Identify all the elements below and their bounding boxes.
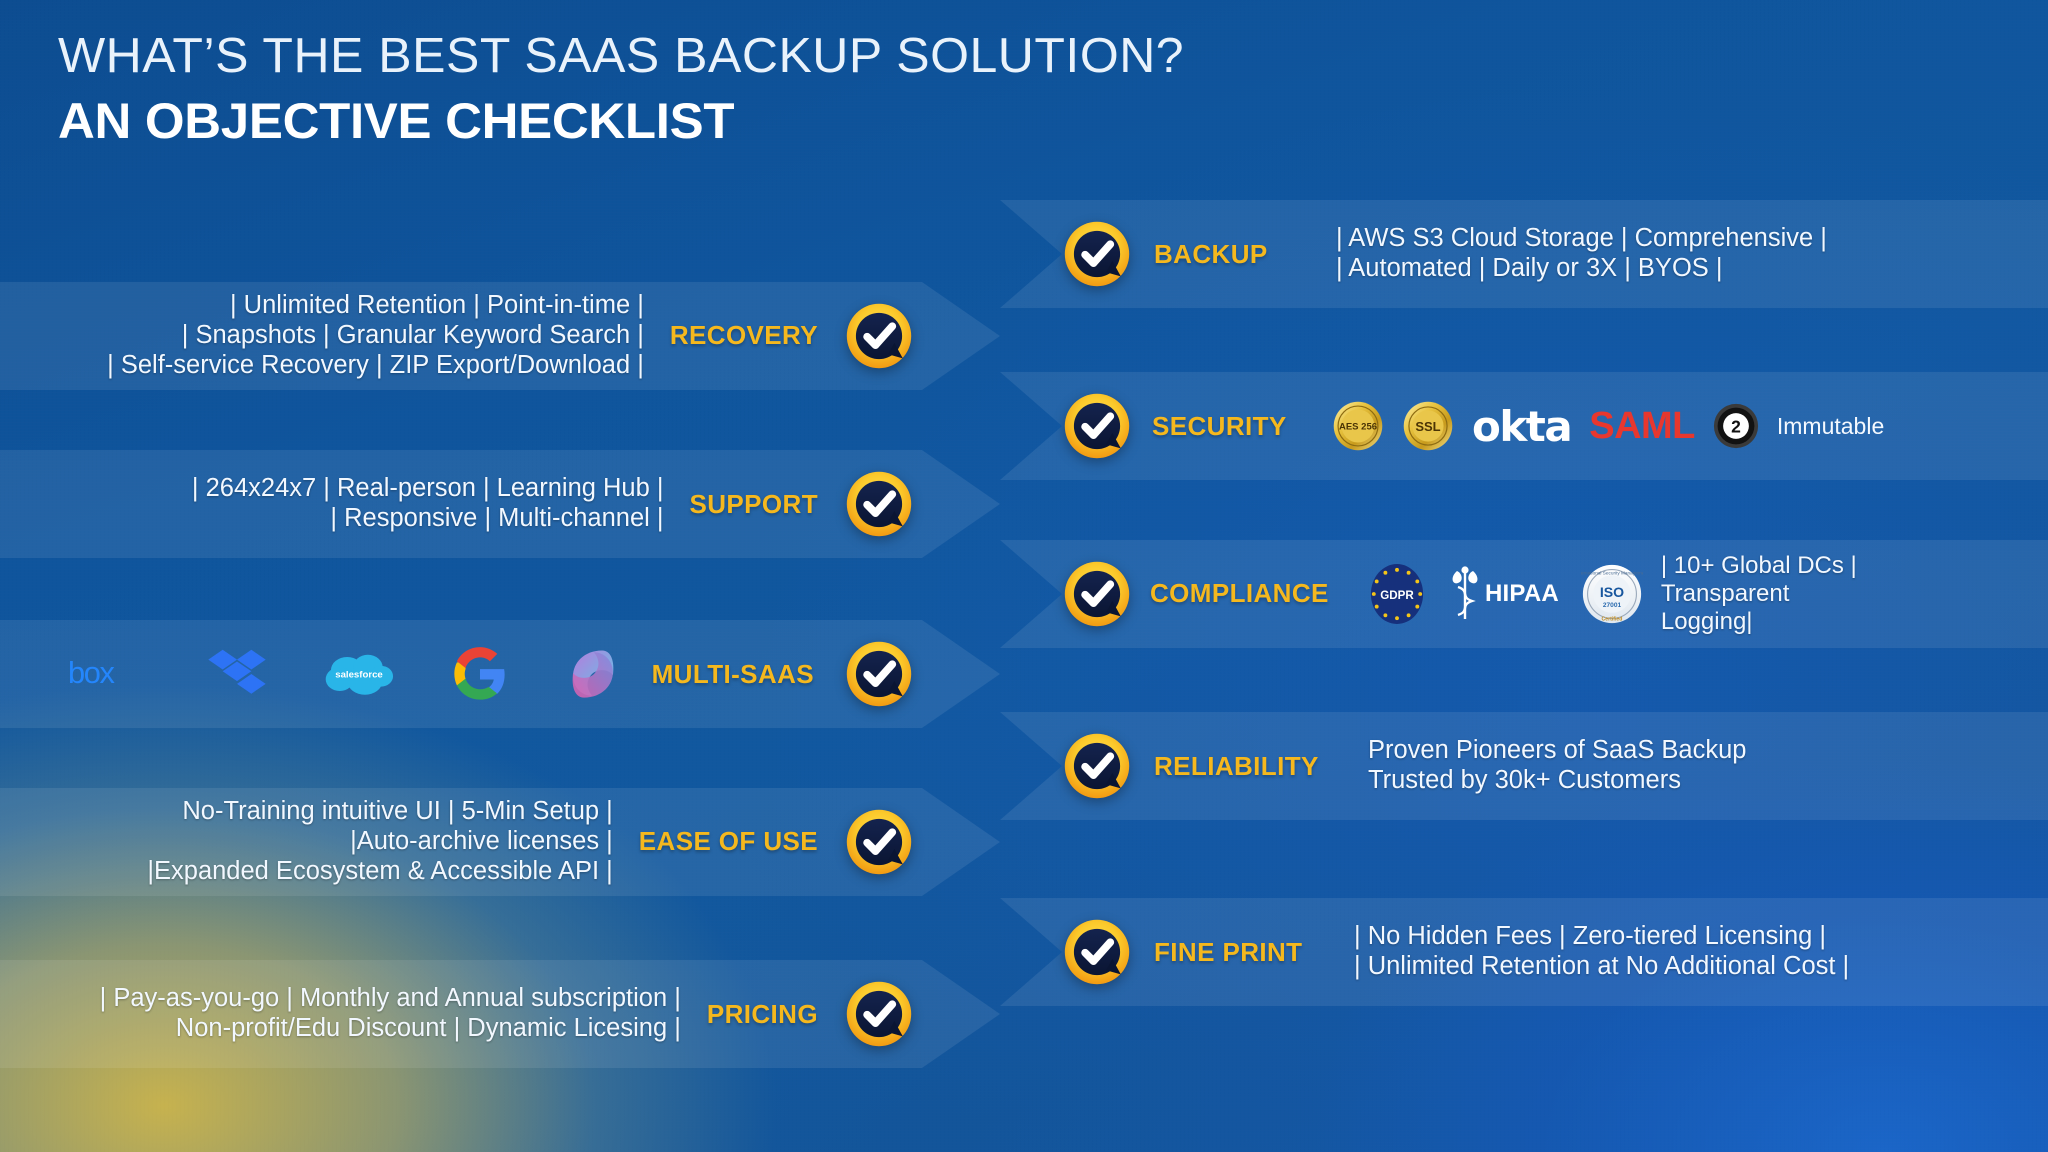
band-pricing[interactable]: | Pay-as-you-go | Monthly and Annual sub… bbox=[0, 960, 1000, 1068]
check-badge-icon bbox=[844, 469, 914, 539]
svg-text:AES 256: AES 256 bbox=[1339, 421, 1377, 432]
backup-line-2: | Automated | Daily or 3X | BYOS | bbox=[1336, 254, 1827, 284]
category-label-fine-print: FINE PRINT bbox=[1154, 937, 1332, 968]
check-badge-icon bbox=[1062, 917, 1132, 987]
compliance-line-2: Logging| bbox=[1661, 608, 1991, 636]
hipaa-logo: HIPAA bbox=[1448, 565, 1559, 623]
support-details: | 264x24x7 | Real-person | Learning Hub … bbox=[192, 474, 664, 534]
compliance-line-1: | 10+ Global DCs | Transparent bbox=[1661, 552, 1991, 608]
title-line-1: WHAT’S THE BEST SAAS BACKUP SOLUTION? bbox=[58, 28, 1184, 84]
support-line-2: | Responsive | Multi-channel | bbox=[192, 504, 664, 534]
svg-text:ISO: ISO bbox=[1600, 584, 1624, 600]
band-recovery[interactable]: | Unlimited Retention | Point-in-time | … bbox=[0, 282, 1000, 390]
band-support[interactable]: | 264x24x7 | Real-person | Learning Hub … bbox=[0, 450, 1000, 558]
dropbox-logo bbox=[208, 648, 266, 700]
immutable-label: Immutable bbox=[1777, 413, 1884, 440]
fine-print-line-1: | No Hidden Fees | Zero-tiered Licensing… bbox=[1354, 922, 1849, 952]
category-label-support: SUPPORT bbox=[690, 489, 818, 520]
band-security[interactable]: SECURITY AES 256 SSL okta SAML bbox=[1000, 372, 2048, 480]
category-label-compliance: COMPLIANCE bbox=[1150, 578, 1350, 609]
title-line-2: AN OBJECTIVE CHECKLIST bbox=[58, 92, 1184, 150]
compliance-badge-row: GDPR HIPAA I bbox=[1368, 563, 1643, 625]
aes256-seal: AES 256 bbox=[1332, 400, 1384, 452]
category-label-recovery: RECOVERY bbox=[670, 320, 818, 351]
iso27001-seal: ISO 27001 International Security Managem… bbox=[1581, 563, 1643, 625]
reliability-line-2: Trusted by 30k+ Customers bbox=[1368, 766, 1746, 796]
backup-details: | AWS S3 Cloud Storage | Comprehensive |… bbox=[1336, 224, 1827, 284]
saml-logo: SAML bbox=[1589, 405, 1695, 448]
category-label-security: SECURITY bbox=[1152, 411, 1312, 442]
band-compliance[interactable]: COMPLIANCE GDPR bbox=[1000, 540, 2048, 648]
category-label-multi-saas: MULTI-SAAS bbox=[652, 659, 814, 690]
caduceus-icon bbox=[1448, 565, 1482, 623]
saas-logo-row: box salesforc bbox=[68, 645, 622, 703]
check-badge-icon bbox=[1062, 219, 1132, 289]
page-title: WHAT’S THE BEST SAAS BACKUP SOLUTION? AN… bbox=[58, 28, 1162, 150]
box-logo: box bbox=[68, 653, 152, 695]
security-badge-row: AES 256 SSL okta SAML 2 Immutable bbox=[1332, 400, 1884, 452]
google-logo bbox=[452, 646, 508, 702]
ease-of-use-line-2: |Auto-archive licenses | bbox=[147, 827, 612, 857]
compliance-details: | 10+ Global DCs | Transparent Logging| bbox=[1661, 552, 1991, 636]
svg-text:International Security Managem: International Security Management bbox=[1581, 570, 1643, 575]
hipaa-label: HIPAA bbox=[1485, 580, 1559, 608]
svg-text:GDPR: GDPR bbox=[1380, 589, 1414, 602]
category-label-reliability: RELIABILITY bbox=[1154, 751, 1346, 782]
band-ease-of-use[interactable]: No-Training intuitive UI | 5-Min Setup |… bbox=[0, 788, 1000, 896]
okta-logo: okta bbox=[1472, 402, 1571, 451]
recovery-line-3: | Self-service Recovery | ZIP Export/Dow… bbox=[107, 351, 644, 381]
category-label-pricing: PRICING bbox=[707, 999, 818, 1030]
recovery-line-1: | Unlimited Retention | Point-in-time | bbox=[107, 291, 644, 321]
svg-text:Certified: Certified bbox=[1601, 616, 1622, 622]
svg-text:salesforce: salesforce bbox=[335, 670, 383, 681]
pricing-details: | Pay-as-you-go | Monthly and Annual sub… bbox=[100, 984, 681, 1044]
gdpr-seal: GDPR bbox=[1368, 563, 1426, 625]
check-badge-icon bbox=[1062, 559, 1132, 629]
pricing-line-1: | Pay-as-you-go | Monthly and Annual sub… bbox=[100, 984, 681, 1014]
reliability-line-1: Proven Pioneers of SaaS Backup bbox=[1368, 736, 1746, 766]
check-badge-icon bbox=[844, 807, 914, 877]
recovery-line-2: | Snapshots | Granular Keyword Search | bbox=[107, 321, 644, 351]
svg-text:SSL: SSL bbox=[1415, 419, 1440, 434]
check-badge-icon bbox=[844, 301, 914, 371]
band-fine-print[interactable]: FINE PRINT | No Hidden Fees | Zero-tiere… bbox=[1000, 898, 2048, 1006]
category-label-backup: BACKUP bbox=[1154, 239, 1314, 270]
check-badge-icon bbox=[1062, 391, 1132, 461]
reliability-details: Proven Pioneers of SaaS Backup Trusted b… bbox=[1368, 736, 1746, 796]
pricing-line-2: Non-profit/Edu Discount | Dynamic Licesi… bbox=[100, 1014, 681, 1044]
ease-of-use-line-3: |Expanded Ecosystem & Accessible API | bbox=[147, 857, 612, 887]
category-label-ease-of-use: EASE OF USE bbox=[639, 826, 818, 857]
recovery-details: | Unlimited Retention | Point-in-time | … bbox=[107, 291, 644, 380]
fine-print-line-2: | Unlimited Retention at No Additional C… bbox=[1354, 952, 1849, 982]
svg-text:2: 2 bbox=[1731, 416, 1741, 436]
band-backup[interactable]: BACKUP | AWS S3 Cloud Storage | Comprehe… bbox=[1000, 200, 2048, 308]
check-badge-icon bbox=[844, 639, 914, 709]
ease-of-use-details: No-Training intuitive UI | 5-Min Setup |… bbox=[147, 797, 612, 886]
fine-print-details: | No Hidden Fees | Zero-tiered Licensing… bbox=[1354, 922, 1849, 982]
ssl-seal: SSL bbox=[1402, 400, 1454, 452]
svg-text:27001: 27001 bbox=[1603, 602, 1622, 609]
backup-line-1: | AWS S3 Cloud Storage | Comprehensive | bbox=[1336, 224, 1827, 254]
microsoft365-logo bbox=[564, 645, 622, 703]
ease-of-use-line-1: No-Training intuitive UI | 5-Min Setup | bbox=[147, 797, 612, 827]
svg-text:box: box bbox=[68, 655, 115, 690]
check-badge-icon bbox=[844, 979, 914, 1049]
band-reliability[interactable]: RELIABILITY Proven Pioneers of SaaS Back… bbox=[1000, 712, 2048, 820]
salesforce-logo: salesforce bbox=[322, 648, 396, 700]
twofa-badge: 2 bbox=[1713, 403, 1759, 449]
check-badge-icon bbox=[1062, 731, 1132, 801]
support-line-1: | 264x24x7 | Real-person | Learning Hub … bbox=[192, 474, 664, 504]
band-multi-saas[interactable]: box salesforc bbox=[0, 620, 1000, 728]
